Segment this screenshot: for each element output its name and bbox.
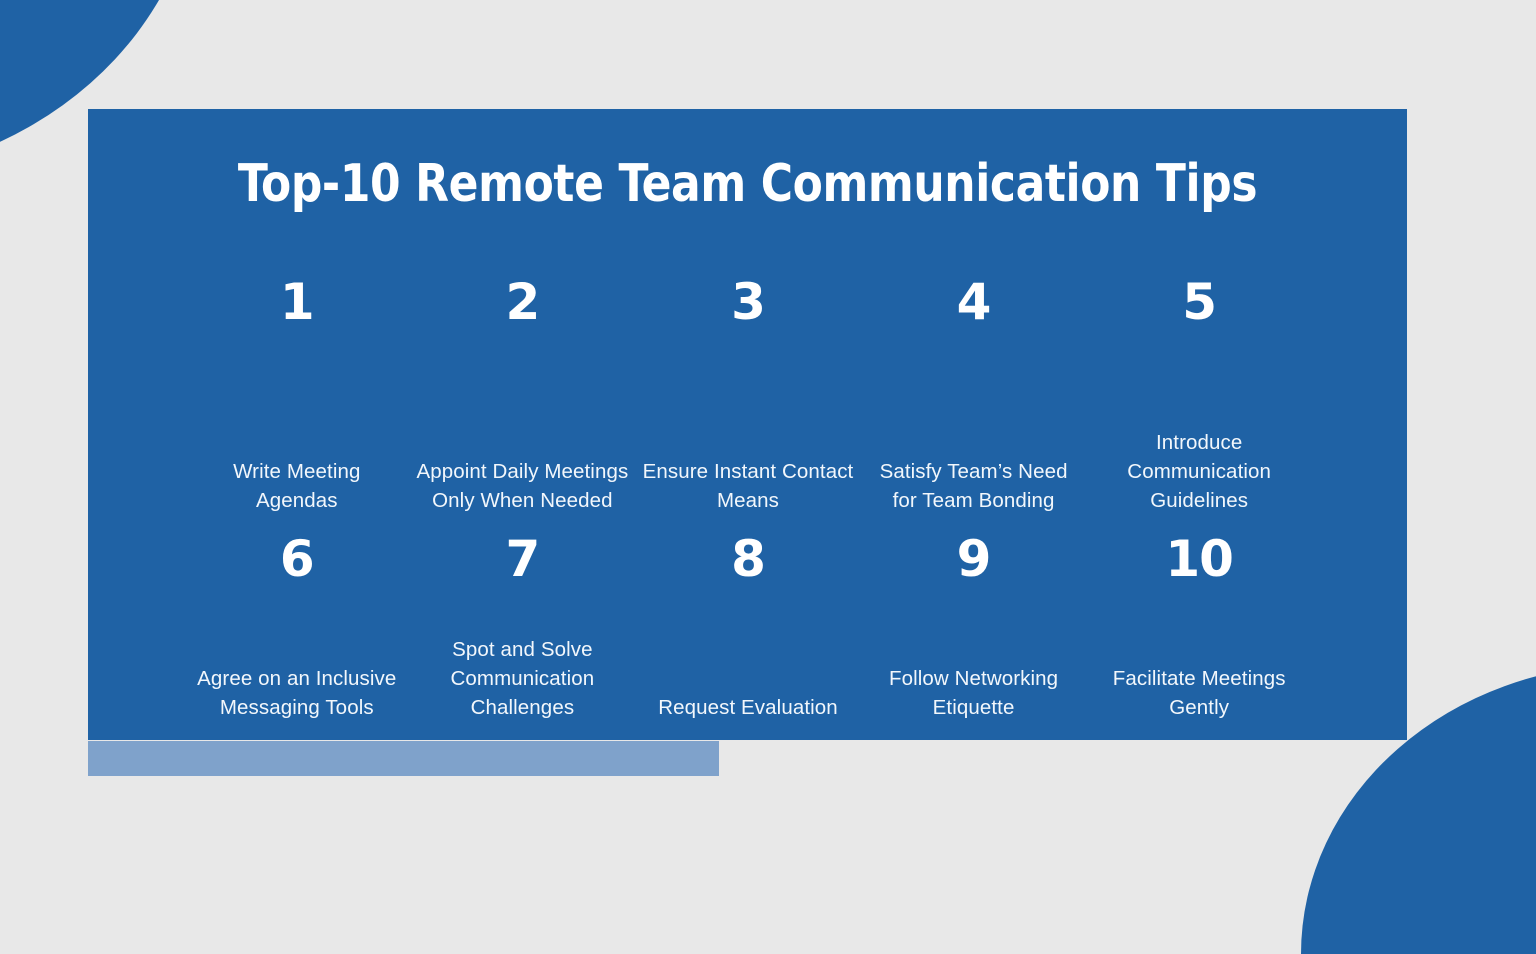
tip-item-3: 3 Ensure Instant Contact Means <box>635 277 861 517</box>
tip-label: Appoint Daily Meetings Only When Needed <box>416 457 630 515</box>
tip-number: 7 <box>505 534 539 584</box>
tip-number-slot: 9 <box>867 534 1081 596</box>
tip-label-slot: Request Evaluation <box>641 596 855 724</box>
tip-number: 2 <box>505 277 539 327</box>
tip-number: 5 <box>1182 277 1216 327</box>
tip-number-slot: 1 <box>190 277 404 339</box>
tip-number: 8 <box>731 534 765 584</box>
tip-label-slot: Satisfy Team’s Need for Team Bonding <box>867 339 1081 517</box>
accent-bar <box>88 741 719 776</box>
tip-number-slot: 10 <box>1092 534 1306 596</box>
tip-label-slot: Facilitate Meetings Gently <box>1092 596 1306 724</box>
page-title: Top-10 Remote Team Communication Tips <box>128 154 1368 214</box>
tip-label: Write Meeting Agendas <box>190 457 404 515</box>
tip-item-2: 2 Appoint Daily Meetings Only When Neede… <box>410 277 636 517</box>
tip-number: 1 <box>280 277 314 327</box>
tip-number-slot: 3 <box>641 277 855 339</box>
tip-number-slot: 4 <box>867 277 1081 339</box>
tip-label: Agree on an Inclusive Messaging Tools <box>190 664 404 722</box>
tip-number-slot: 2 <box>416 277 630 339</box>
tips-panel: Top-10 Remote Team Communication Tips 1 … <box>88 109 1407 740</box>
tip-label-slot: Follow Networking Etiquette <box>867 596 1081 724</box>
tip-number-slot: 5 <box>1092 277 1306 339</box>
tip-item-8: 8 Request Evaluation <box>635 534 861 724</box>
tip-label: Request Evaluation <box>658 693 838 722</box>
tip-label: Follow Networking Etiquette <box>867 664 1081 722</box>
tip-number: 10 <box>1165 534 1233 584</box>
tip-number: 6 <box>280 534 314 584</box>
tip-label-slot: Spot and Solve Communication Challenges <box>416 596 630 724</box>
tip-item-7: 7 Spot and Solve Communication Challenge… <box>410 534 636 724</box>
tip-label-slot: Write Meeting Agendas <box>190 339 404 517</box>
tip-number-slot: 8 <box>641 534 855 596</box>
tip-number: 4 <box>957 277 991 327</box>
tip-number: 9 <box>957 534 991 584</box>
tip-item-5: 5 Introduce Communication Guidelines <box>1086 277 1312 517</box>
tips-row-second: 6 Agree on an Inclusive Messaging Tools … <box>184 534 1312 724</box>
tip-label: Introduce Communication Guidelines <box>1092 428 1306 515</box>
tip-label: Ensure Instant Contact Means <box>641 457 855 515</box>
tip-label: Facilitate Meetings Gently <box>1092 664 1306 722</box>
tip-label-slot: Appoint Daily Meetings Only When Needed <box>416 339 630 517</box>
tips-row-first: 1 Write Meeting Agendas 2 Appoint Daily … <box>184 277 1312 517</box>
tip-label-slot: Ensure Instant Contact Means <box>641 339 855 517</box>
tip-label-slot: Agree on an Inclusive Messaging Tools <box>190 596 404 724</box>
tip-number-slot: 7 <box>416 534 630 596</box>
tip-item-9: 9 Follow Networking Etiquette <box>861 534 1087 724</box>
tip-label-slot: Introduce Communication Guidelines <box>1092 339 1306 517</box>
tip-item-6: 6 Agree on an Inclusive Messaging Tools <box>184 534 410 724</box>
tip-item-4: 4 Satisfy Team’s Need for Team Bonding <box>861 277 1087 517</box>
tip-label: Spot and Solve Communication Challenges <box>416 635 630 722</box>
tip-number-slot: 6 <box>190 534 404 596</box>
tip-label: Satisfy Team’s Need for Team Bonding <box>867 457 1081 515</box>
tip-item-10: 10 Facilitate Meetings Gently <box>1086 534 1312 724</box>
tip-item-1: 1 Write Meeting Agendas <box>184 277 410 517</box>
tip-number: 3 <box>731 277 765 327</box>
